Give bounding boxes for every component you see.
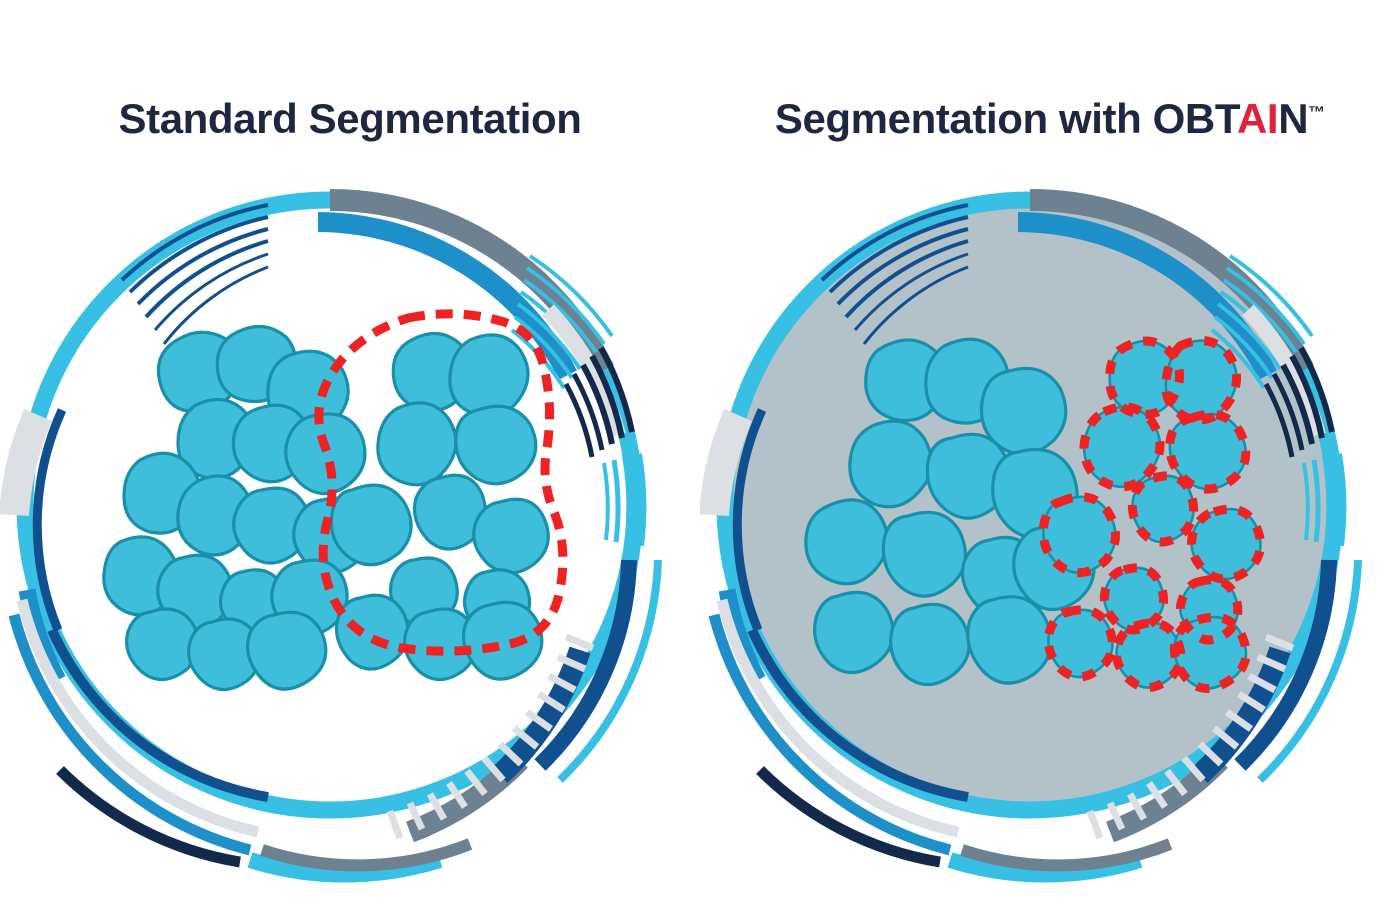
panel-title-obtain-suffix: N	[1278, 95, 1308, 142]
trademark-symbol: ™	[1308, 103, 1325, 122]
ring-graphic-obtain	[700, 160, 1400, 900]
diagram-obtain	[700, 160, 1400, 900]
panel-title-obtain: Segmentation with OBTAIN™	[700, 95, 1400, 143]
panel-title-standard: Standard Segmentation	[0, 95, 700, 143]
cell-cluster-right-standard	[331, 333, 548, 679]
panel-title-obtain-prefix: Segmentation with OBT	[775, 95, 1237, 142]
diagram-standard	[0, 160, 700, 900]
panel-title-standard-text: Standard Segmentation	[119, 95, 582, 142]
panel-obtain-segmentation: Segmentation with OBTAIN™	[700, 0, 1400, 900]
panel-title-obtain-ai-accent: AI	[1237, 95, 1278, 142]
illustration-canvas: Standard Segmentation	[0, 0, 1400, 900]
ring-graphic-standard	[0, 160, 700, 900]
panel-standard-segmentation: Standard Segmentation	[0, 0, 700, 900]
